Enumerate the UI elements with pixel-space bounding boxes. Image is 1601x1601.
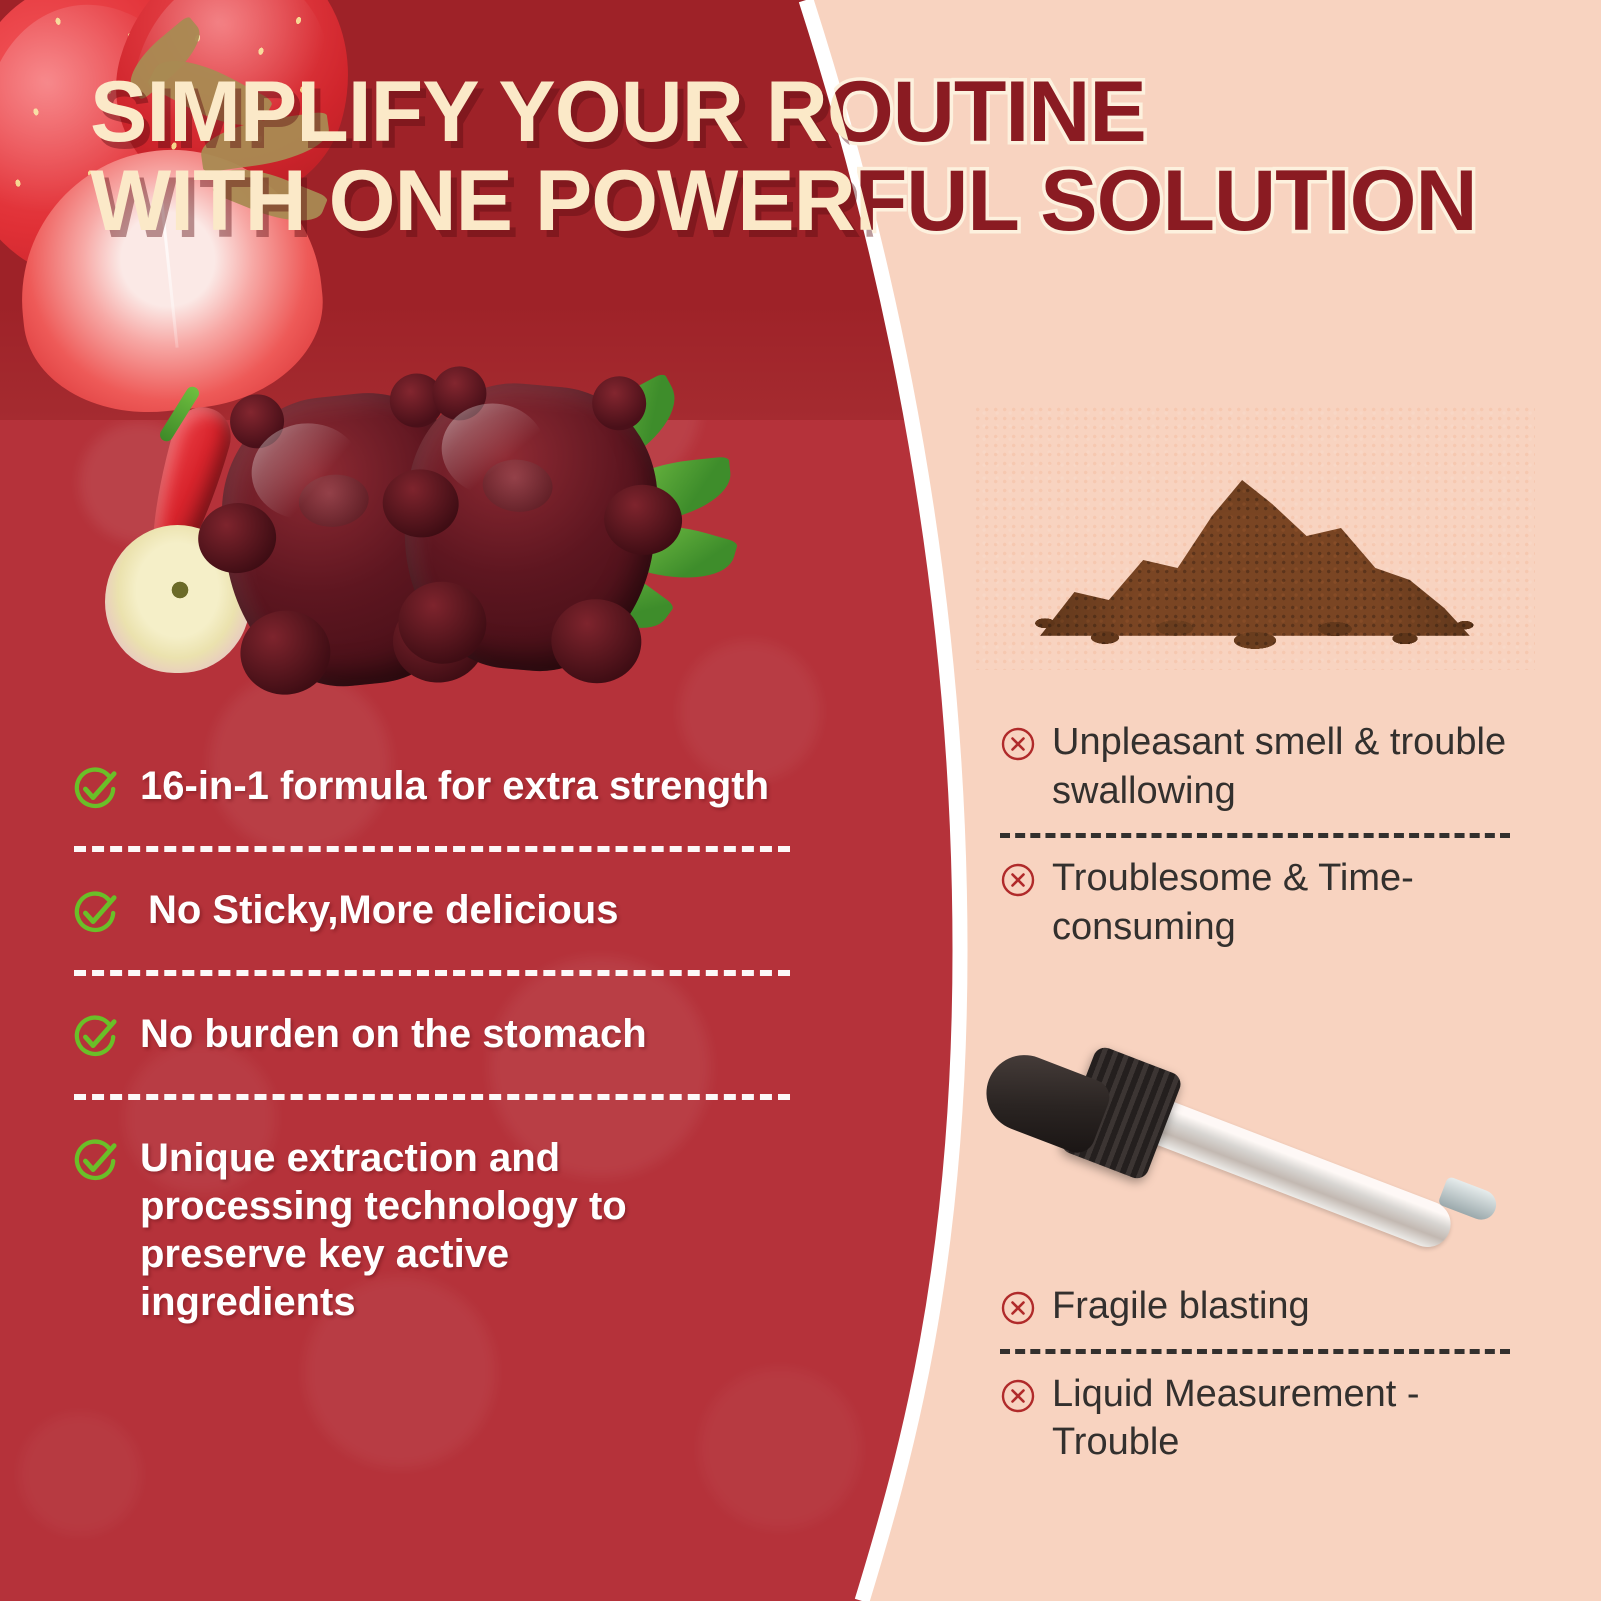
- product-comparison-infographic: 16-in-1 formula for extra strength No St…: [0, 0, 1601, 1601]
- page-title: SIMPLIFY YOUR ROUTINE WITH ONE POWERFUL …: [90, 68, 1560, 336]
- glass-pipette-dropper-image: [955, 1035, 1515, 1250]
- cons-list-item: Fragile blasting: [1000, 1282, 1520, 1331]
- cons-list-item: Unpleasant smell & trouble swallowing: [1000, 718, 1520, 815]
- check-circle-icon: [72, 766, 118, 812]
- x-circle-icon: [1000, 726, 1036, 762]
- cons-list-item: Liquid Measurement - Trouble: [1000, 1370, 1520, 1467]
- pros-item-label: No Sticky,More delicious: [148, 886, 619, 934]
- cons-separator: [1000, 833, 1510, 838]
- x-circle-icon: [1000, 862, 1036, 898]
- dropper-glass-tube: [1133, 1093, 1458, 1254]
- pros-separator: [74, 970, 790, 976]
- cons-separator: [1000, 1349, 1510, 1354]
- pros-list-item: 16-in-1 formula for extra strength: [72, 762, 892, 812]
- brown-powder-pile-image: [975, 405, 1535, 670]
- check-circle-icon: [72, 890, 118, 936]
- pros-list-item: Unique extraction and processing technol…: [72, 1134, 892, 1326]
- cons-item-label: Unpleasant smell & trouble swallowing: [1052, 718, 1520, 815]
- check-circle-icon: [72, 1014, 118, 1060]
- x-circle-icon: [1000, 1378, 1036, 1414]
- pros-item-label: Unique extraction and processing technol…: [140, 1134, 640, 1326]
- cons-list-top: Unpleasant smell & trouble swallowing Tr…: [1000, 718, 1520, 952]
- pros-item-label: 16-in-1 formula for extra strength: [140, 762, 769, 810]
- x-circle-icon: [1000, 1290, 1036, 1326]
- pros-item-label: No burden on the stomach: [140, 1010, 647, 1058]
- cons-list-bottom: Fragile blasting Liquid Measurement - Tr…: [1000, 1282, 1520, 1467]
- check-circle-icon: [72, 1138, 118, 1184]
- cons-list-item: Troublesome & Time-consuming: [1000, 854, 1520, 951]
- gummy-bear-icon: [393, 375, 667, 681]
- pros-separator: [74, 1094, 790, 1100]
- cons-item-label: Fragile blasting: [1052, 1282, 1310, 1331]
- cons-item-label: Troublesome & Time-consuming: [1052, 854, 1520, 951]
- gummy-bears-product-image: [95, 375, 715, 705]
- pros-list-item: No Sticky,More delicious: [72, 886, 892, 936]
- cons-item-label: Liquid Measurement - Trouble: [1052, 1370, 1520, 1467]
- pros-separator: [74, 846, 790, 852]
- pros-list: 16-in-1 formula for extra strength No St…: [72, 762, 892, 1326]
- pros-list-item: No burden on the stomach: [72, 1010, 892, 1060]
